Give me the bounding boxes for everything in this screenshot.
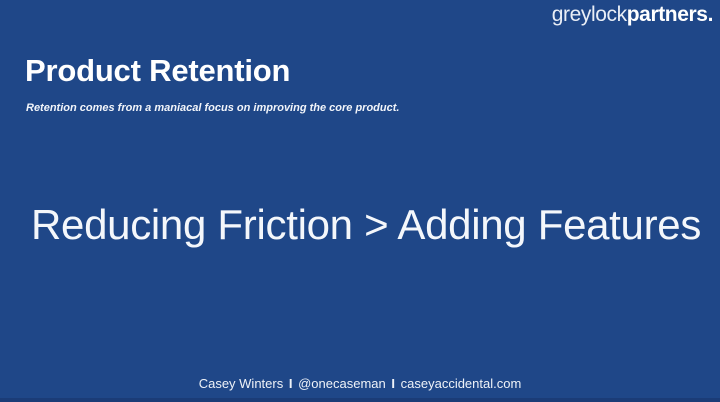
bottom-edge-band — [0, 398, 720, 402]
logo-text-greylock: greylock — [552, 3, 627, 26]
page-subtitle: Retention comes from a maniacal focus on… — [26, 101, 399, 115]
presentation-slide: greylockpartners. Product Retention Rete… — [0, 0, 720, 402]
footer-website: caseyaccidental.com — [401, 376, 522, 391]
footer-separator-1: I — [287, 376, 295, 391]
page-title: Product Retention — [25, 54, 290, 89]
footer-separator-2: I — [389, 376, 397, 391]
slide-headline: Reducing Friction > Adding Features — [31, 202, 701, 248]
footer-social-handle: @onecaseman — [298, 376, 386, 391]
greylock-partners-logo: greylockpartners. — [552, 4, 713, 25]
logo-text-partners: partners. — [627, 3, 713, 26]
footer-author: Casey Winters — [199, 376, 284, 391]
footer-credit: Casey Winters I @onecaseman I caseyaccid… — [0, 376, 720, 392]
